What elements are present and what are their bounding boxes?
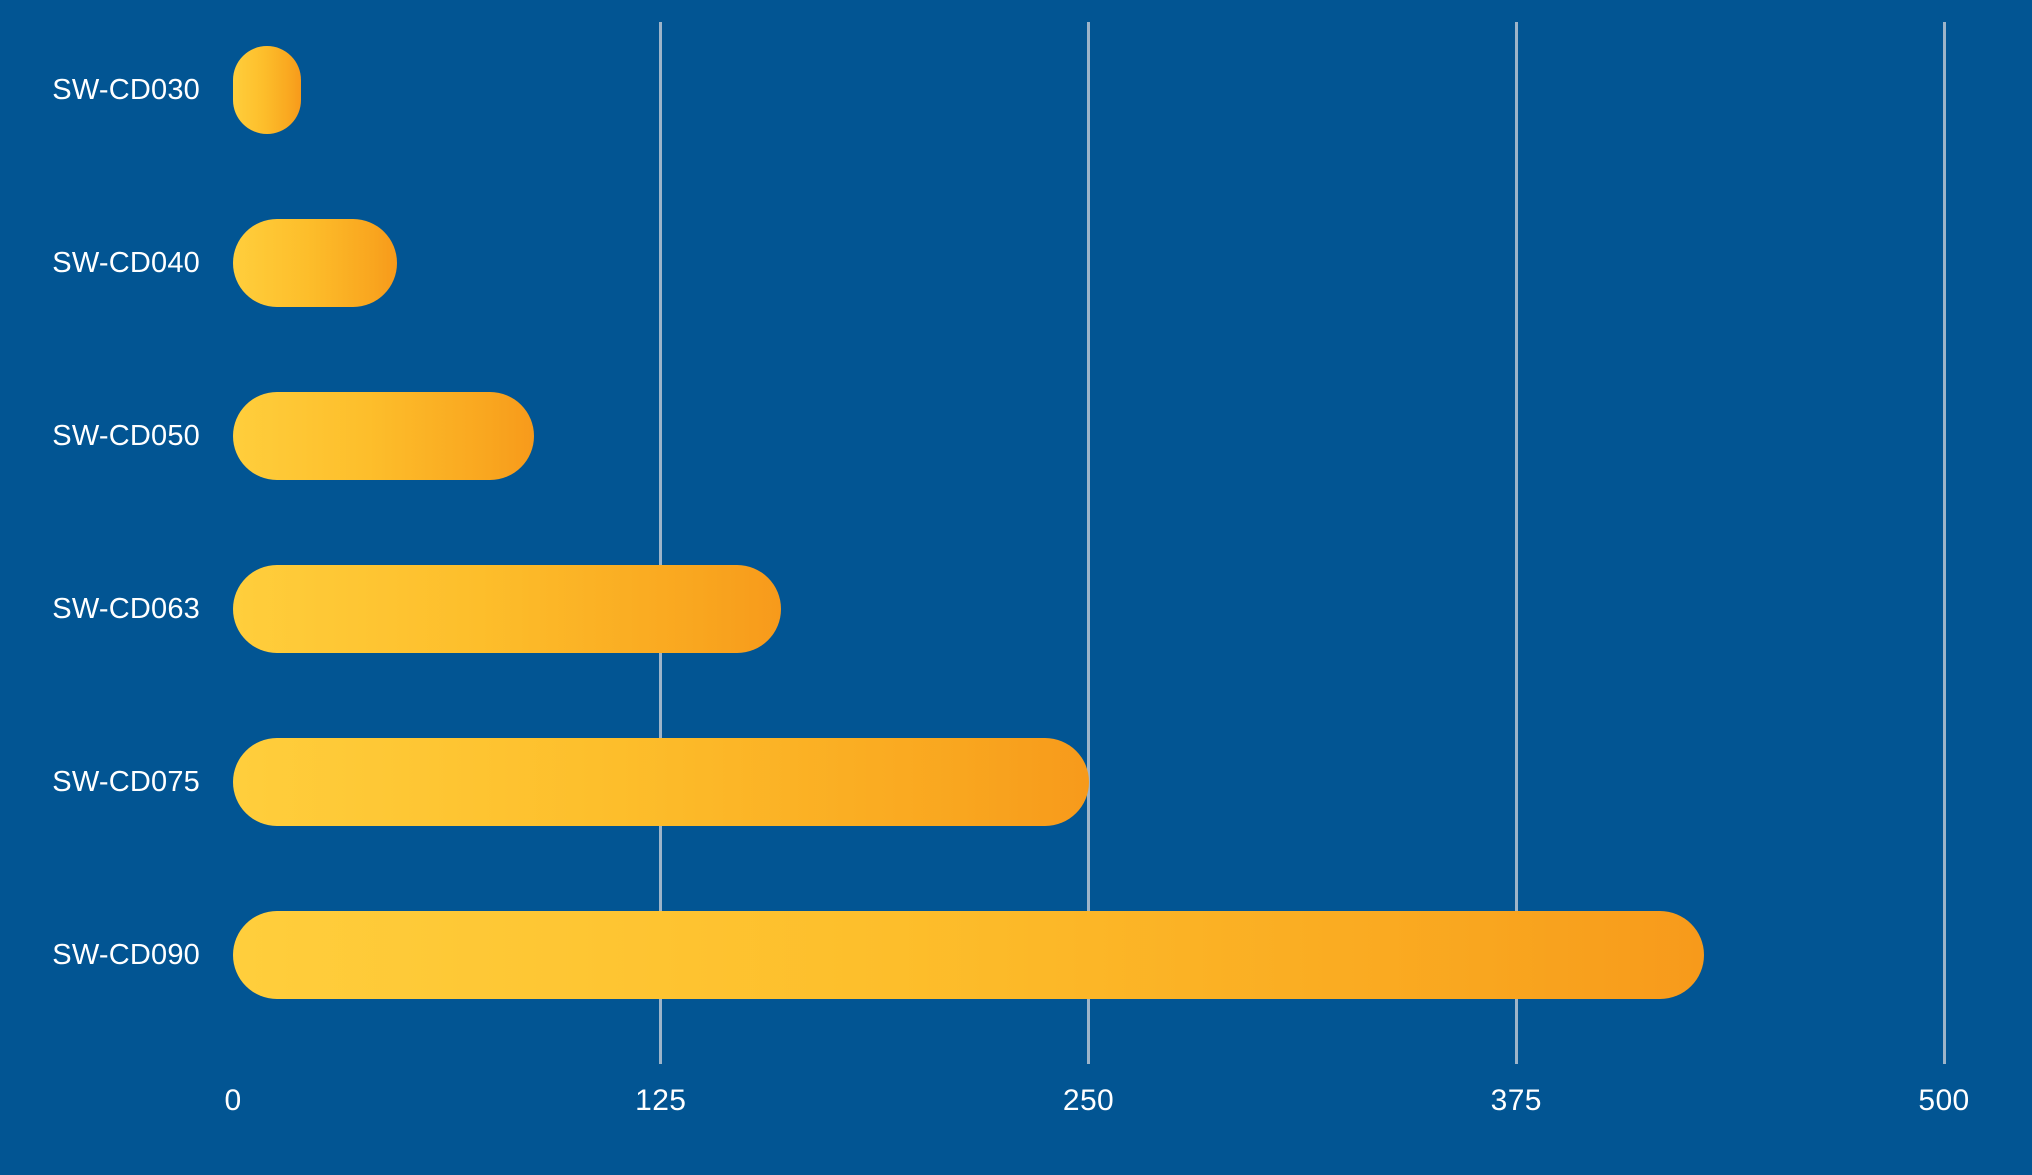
bar-sw-cd050[interactable] [233,392,534,480]
category-label-sw-cd090: SW-CD090 [0,911,200,999]
bar-sw-cd090[interactable] [233,911,1704,999]
x-tick-label-500: 500 [1918,1084,1969,1118]
x-tick-label-125: 125 [635,1084,686,1118]
bar-sw-cd063[interactable] [233,565,781,653]
bar-row: SW-CD040 [0,219,2032,307]
bar-row: SW-CD030 [0,46,2032,134]
bar-chart-canvas: SW-CD030SW-CD040SW-CD050SW-CD063SW-CD075… [0,0,2032,1175]
category-label-sw-cd050: SW-CD050 [0,392,200,480]
plot-area: SW-CD030SW-CD040SW-CD050SW-CD063SW-CD075… [0,0,2032,1175]
bar-track [233,46,301,134]
x-axis: 0125250375500 [0,1084,2032,1144]
x-tick-label-0: 0 [224,1084,241,1118]
bar-track [233,911,1704,999]
bar-row: SW-CD075 [0,738,2032,826]
category-label-sw-cd040: SW-CD040 [0,219,200,307]
bar-sw-cd075[interactable] [233,738,1089,826]
x-tick-label-250: 250 [1063,1084,1114,1118]
category-label-sw-cd030: SW-CD030 [0,46,200,134]
x-tick-label-375: 375 [1491,1084,1542,1118]
bar-track [233,392,534,480]
bar-track [233,565,781,653]
bar-sw-cd040[interactable] [233,219,397,307]
category-label-sw-cd063: SW-CD063 [0,565,200,653]
bar-row: SW-CD050 [0,392,2032,480]
category-label-sw-cd075: SW-CD075 [0,738,200,826]
bar-row: SW-CD063 [0,565,2032,653]
bar-track [233,738,1089,826]
bar-row: SW-CD090 [0,911,2032,999]
bar-track [233,219,397,307]
bar-sw-cd030[interactable] [233,46,301,134]
